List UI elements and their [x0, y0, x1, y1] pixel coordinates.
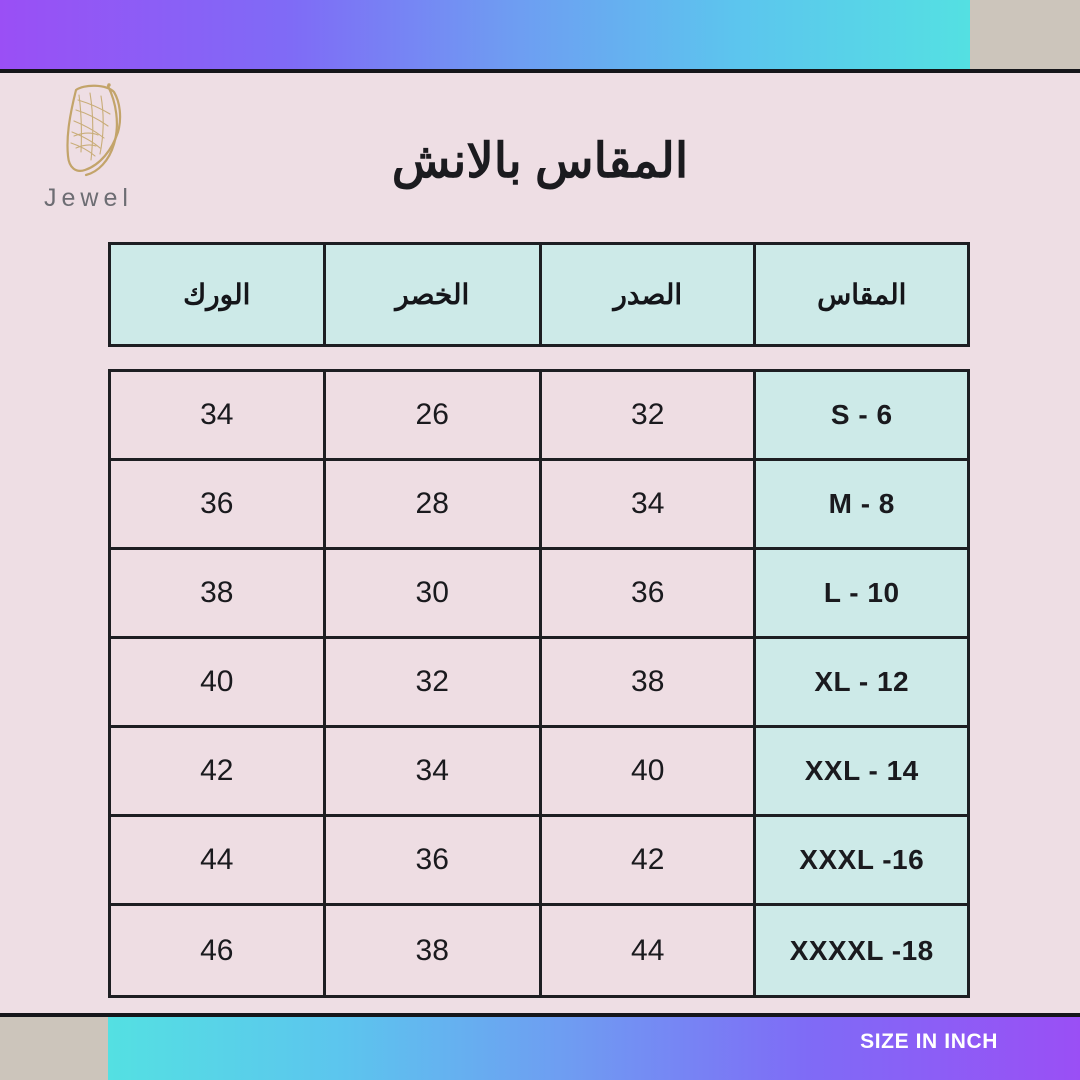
cell-chest: 36 — [539, 550, 754, 636]
cell-chest: 38 — [539, 639, 754, 725]
table-row: XL - 12 38 32 40 — [111, 639, 967, 728]
cell-size: XXXXL -18 — [753, 906, 967, 995]
cell-size: XXL - 14 — [753, 728, 967, 814]
table-header-row: المقاس الصدر الخصر الورك — [108, 242, 970, 347]
table-row: M - 8 34 28 36 — [111, 461, 967, 550]
cell-waist: 38 — [323, 906, 539, 995]
cell-hip: 38 — [111, 550, 323, 636]
cell-size: XXXL -16 — [753, 817, 967, 903]
cell-waist: 34 — [323, 728, 539, 814]
table-row: L - 10 36 30 38 — [111, 550, 967, 639]
column-header-chest: الصدر — [539, 245, 754, 344]
cell-size: XL - 12 — [753, 639, 967, 725]
table-body: S - 6 32 26 34 M - 8 34 28 36 L - 10 36 … — [108, 369, 970, 998]
table-row: XXL - 14 40 34 42 — [111, 728, 967, 817]
cell-hip: 46 — [111, 906, 323, 995]
table-row: XXXXL -18 44 38 46 — [111, 906, 967, 995]
top-gradient-band — [0, 0, 970, 70]
cell-size: S - 6 — [753, 372, 967, 458]
cell-waist: 36 — [323, 817, 539, 903]
cell-size: L - 10 — [753, 550, 967, 636]
cell-chest: 40 — [539, 728, 754, 814]
table-row: S - 6 32 26 34 — [111, 372, 967, 461]
cell-chest: 44 — [539, 906, 754, 995]
page-title: المقاس بالانش — [0, 133, 1080, 189]
cell-chest: 42 — [539, 817, 754, 903]
cell-hip: 42 — [111, 728, 323, 814]
cell-hip: 36 — [111, 461, 323, 547]
cell-hip: 44 — [111, 817, 323, 903]
cell-waist: 32 — [323, 639, 539, 725]
cell-waist: 28 — [323, 461, 539, 547]
size-chart-canvas: Jewel المقاس بالانش المقاس الصدر الخصر ا… — [0, 0, 1080, 1080]
cell-hip: 34 — [111, 372, 323, 458]
column-header-hip: الورك — [111, 245, 323, 344]
cell-waist: 26 — [323, 372, 539, 458]
footer-label: SIZE IN INCH — [860, 1030, 998, 1054]
cell-waist: 30 — [323, 550, 539, 636]
column-header-waist: الخصر — [323, 245, 539, 344]
cell-chest: 32 — [539, 372, 754, 458]
cell-chest: 34 — [539, 461, 754, 547]
table-row: XXXL -16 42 36 44 — [111, 817, 967, 906]
column-header-size: المقاس — [753, 245, 967, 344]
cell-hip: 40 — [111, 639, 323, 725]
cell-size: M - 8 — [753, 461, 967, 547]
